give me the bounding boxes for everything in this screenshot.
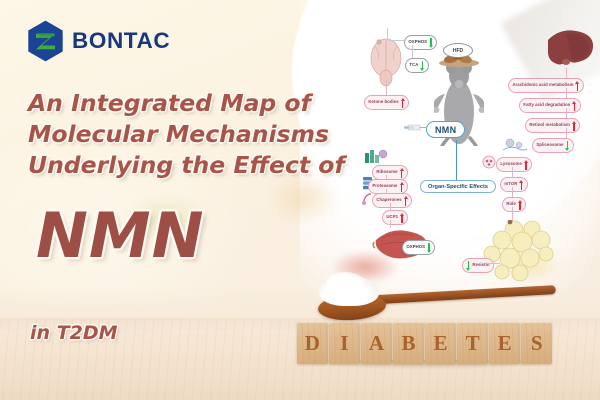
connector-resistin: [486, 263, 500, 264]
nmn-center-node[interactable]: NMN: [426, 121, 465, 138]
node-label: Ribosome: [376, 170, 397, 174]
connector-brain-h: [387, 40, 405, 41]
arrow-up-icon: [401, 98, 405, 108]
node-label: Arachidonic acid metabolism: [512, 83, 573, 87]
connector-oxphos-tca: [412, 45, 413, 58]
connector-brain-oxphos: [387, 28, 388, 40]
arrow-down-icon: [427, 243, 431, 253]
lysosome-icon: [482, 155, 496, 169]
connector-m3: [390, 203, 391, 210]
white-powder-highlight: [326, 272, 364, 292]
node-resistin[interactable]: Resistin: [462, 258, 494, 273]
node-label: Spliceosome: [536, 143, 563, 147]
hexagon-swoosh-logo-icon: [26, 20, 65, 62]
arrow-down-icon: [420, 61, 424, 71]
arrow-down-icon: [565, 141, 569, 151]
node-arachidonic-acid-metabolism[interactable]: Arachidonic acid metabolism: [508, 78, 584, 93]
headline-line-2: Molecular Mechanisms: [28, 119, 358, 150]
headline-line-1: An Integrated Map of: [28, 88, 358, 119]
node-muscle-oxphos[interactable]: OXPHOS: [402, 240, 435, 255]
headline-block: An Integrated Map of Molecular Mechanism…: [28, 88, 358, 181]
node-label: Fatty acid degradation: [523, 103, 570, 107]
arrow-up-icon: [572, 121, 576, 131]
connector-a2: [512, 187, 513, 197]
arrow-down-icon: [429, 38, 433, 48]
organ-effects-label: Organ-Specific Effects: [428, 184, 488, 190]
arrow-up-icon: [572, 101, 576, 111]
connector-liver-4: [566, 128, 567, 138]
poster-canvas: BONTAC An Integrated Map of Molecular Me…: [0, 0, 600, 400]
arrow-up-icon: [400, 182, 404, 192]
node-proteasome[interactable]: Proteasome: [368, 179, 408, 194]
connector-liver-3: [566, 108, 567, 118]
connector-liver: [566, 68, 567, 78]
spliceosome-icon: [502, 134, 528, 154]
connector-m1: [386, 175, 387, 179]
liver-icon: [544, 28, 594, 70]
node-lysosome[interactable]: Lysosome: [496, 157, 532, 172]
node-retinol-metabolism[interactable]: Retinol metabolism: [525, 118, 580, 133]
node-label: mTOR: [504, 182, 517, 186]
node-brain-tca[interactable]: TCA: [405, 58, 429, 73]
node-ketone-bodies[interactable]: Ketone bodies: [364, 95, 409, 110]
arrow-up-icon: [518, 200, 522, 210]
arrow-up-icon: [575, 81, 579, 91]
hero-title-nmn: NMN: [36, 205, 204, 267]
ribosome-icon: [364, 148, 388, 164]
node-ribosome[interactable]: Ribosome: [372, 165, 408, 180]
spoon-handle: [360, 285, 556, 305]
headline-line-3: Underlying the Effect of: [28, 150, 358, 181]
node-label: TCA: [409, 63, 418, 67]
connector-m2: [386, 189, 387, 193]
hfd-label: HFD: [453, 48, 463, 54]
mechanism-diagram: OXPHOS TCA Ketone bodies: [360, 18, 600, 288]
node-ucp1[interactable]: UCP1: [382, 210, 408, 225]
arrow-up-icon: [400, 213, 404, 223]
wooden-spoon: [286, 278, 566, 330]
node-spliceosome[interactable]: Spliceosome: [532, 138, 574, 153]
node-fatty-acid-degradation[interactable]: Fatty acid degradation: [519, 98, 581, 113]
nmn-label: NMN: [435, 125, 456, 135]
organ-specific-effects-box[interactable]: Organ-Specific Effects: [420, 180, 496, 193]
connector-a1: [512, 167, 513, 177]
adipocyte-cluster-icon: [480, 220, 558, 282]
node-label: Proteasome: [372, 184, 397, 188]
arrow-up-icon: [524, 160, 528, 170]
node-chaperones[interactable]: Chaperones: [372, 193, 412, 208]
arrow-up-icon: [519, 180, 523, 190]
node-label: Resistin: [472, 263, 489, 267]
hfd-bubble[interactable]: HFD: [443, 43, 473, 58]
arrow-down-icon: [466, 261, 470, 271]
node-mtor[interactable]: mTOR: [500, 177, 528, 192]
node-label: UCP1: [386, 215, 398, 219]
brand-name: BONTAC: [72, 28, 170, 54]
arrow-up-icon: [404, 196, 408, 206]
brand-logo: BONTAC: [26, 20, 170, 62]
connector-liver-2: [566, 88, 567, 98]
arrow-up-icon: [400, 168, 404, 178]
node-label: Retinol metabolism: [529, 123, 570, 127]
node-label: OXPHOS: [406, 245, 425, 249]
node-brain-oxphos[interactable]: OXPHOS: [404, 35, 437, 50]
syringe-icon: [404, 120, 426, 136]
node-label: Ketone bodies: [368, 100, 398, 104]
node-ride[interactable]: Ride: [502, 197, 526, 212]
subtitle-t2dm: in T2DM: [30, 322, 118, 344]
connector-brain-ketone: [386, 80, 387, 95]
